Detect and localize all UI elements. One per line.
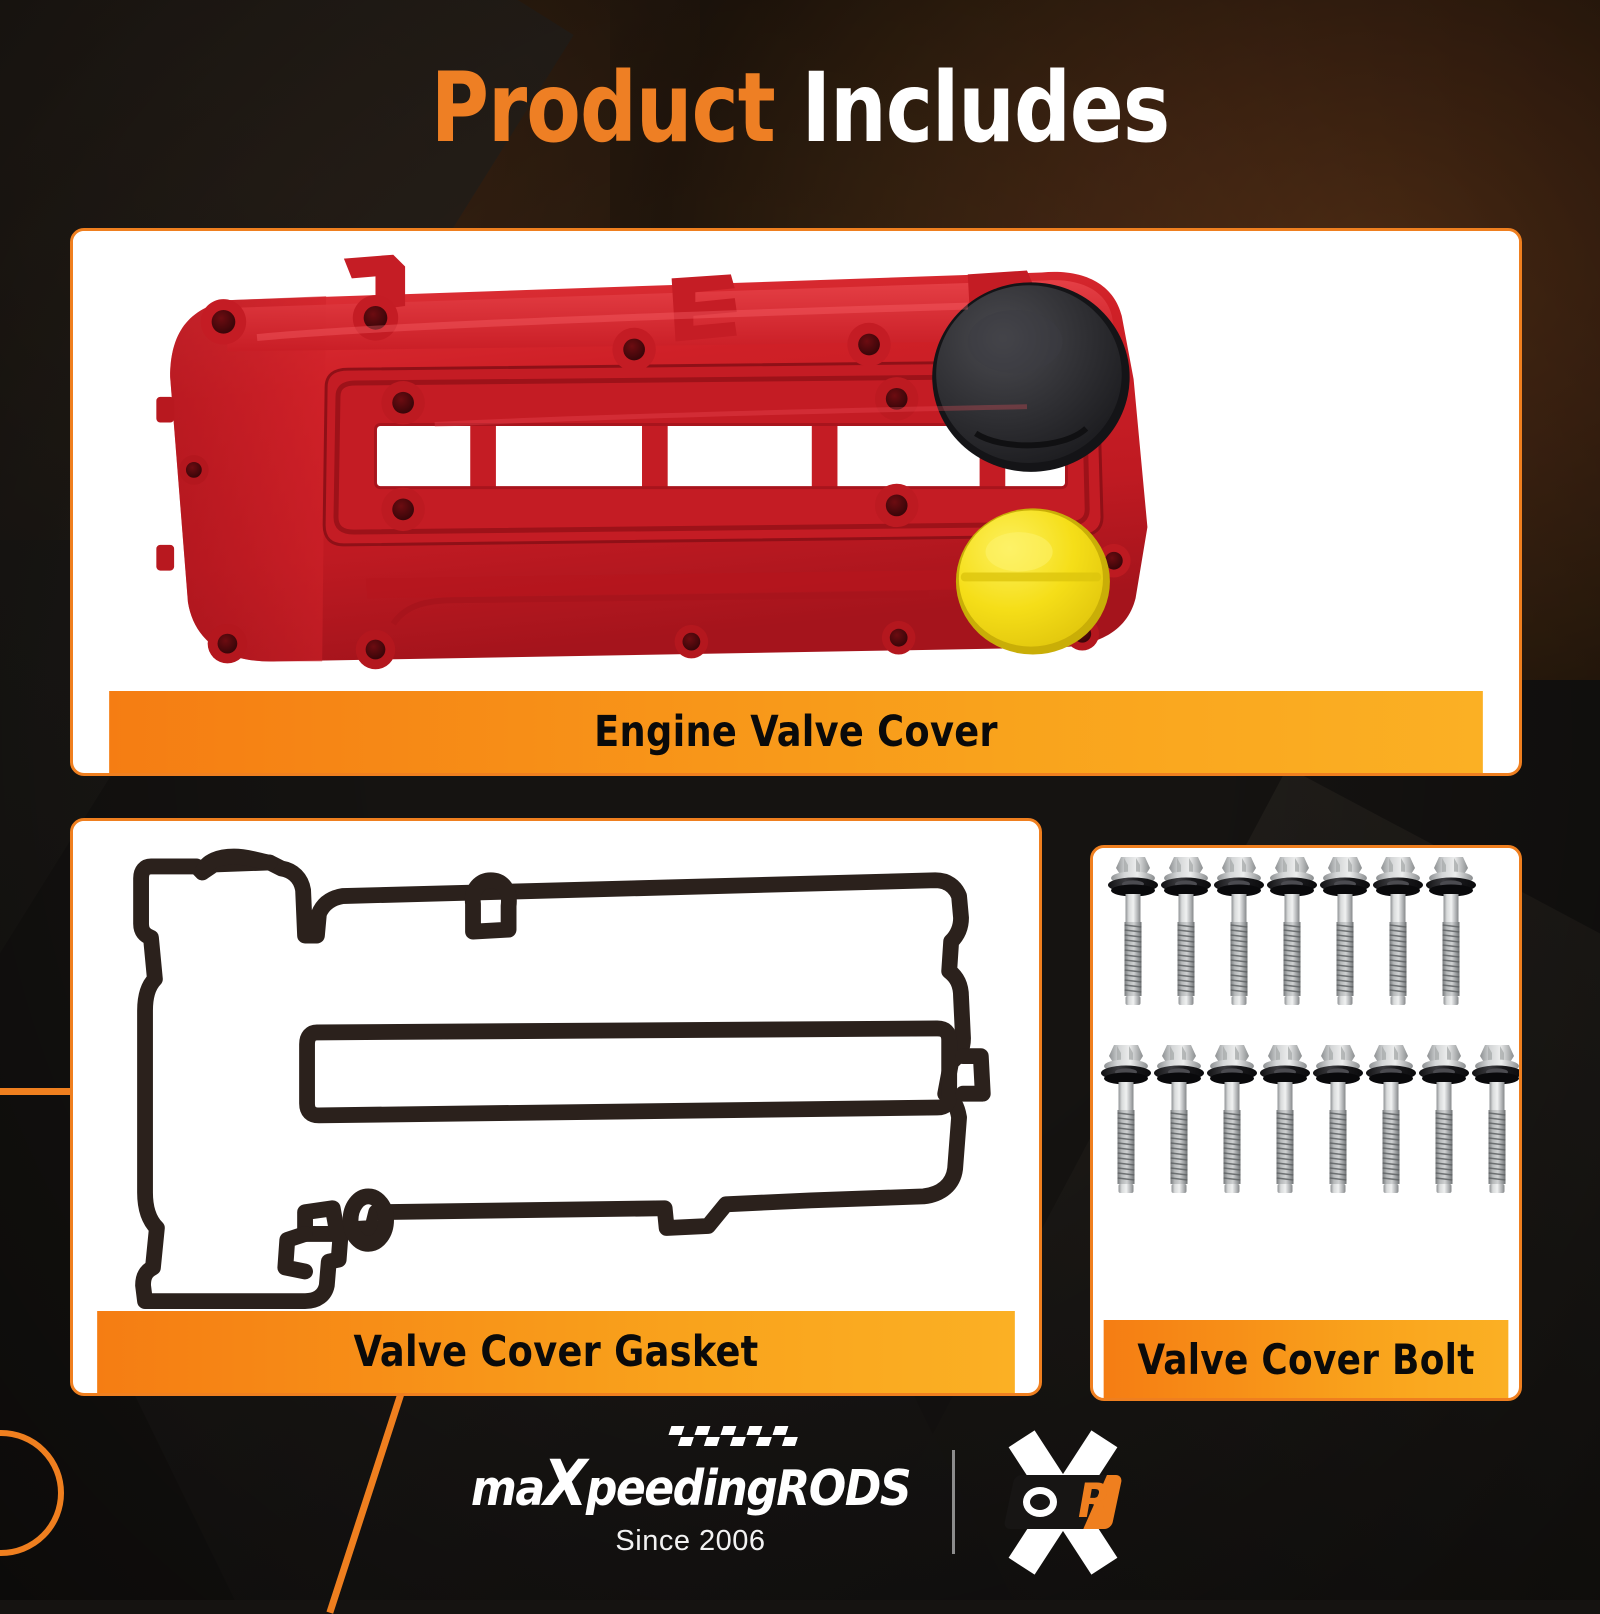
engine-valve-cover-image xyxy=(73,231,1519,691)
oil-cap-yellow xyxy=(956,508,1110,654)
checkered-flag-icon xyxy=(665,1426,808,1447)
page-title: Product Includes xyxy=(64,58,1536,159)
valve-cover-side-tab-lower xyxy=(156,545,174,571)
valve-cover-mount-tab-2 xyxy=(672,274,737,341)
product-card-valve-cover-bolt[interactable]: Valve Cover Bolt xyxy=(1090,845,1522,1401)
footer-divider xyxy=(952,1450,955,1554)
valve-cover-gasket-image xyxy=(73,821,1039,1311)
badge-letter-o xyxy=(1023,1487,1057,1517)
brand-mid: peeding xyxy=(586,1460,776,1517)
bolt-row-bottom xyxy=(1101,1045,1519,1193)
gasket-center-opening xyxy=(307,1028,949,1115)
brand-wordmark: maXpeedingRODS xyxy=(471,1447,910,1520)
brand-logo: maXpeedingRODS Since 2006 xyxy=(471,1447,910,1558)
valve-cover-gasket-caption: Valve Cover Gasket xyxy=(97,1311,1015,1393)
gasket-top-tab xyxy=(473,880,509,931)
brand-suffix: RODS xyxy=(776,1460,910,1517)
badge-letter-r: R xyxy=(1079,1479,1112,1525)
valve-cover-bolt-caption: Valve Cover Bolt xyxy=(1104,1320,1509,1398)
gasket-right-tab xyxy=(963,1056,983,1094)
valve-cover-illustration xyxy=(73,231,1519,691)
brand-since-text: Since 2006 xyxy=(615,1525,765,1558)
product-card-engine-valve-cover[interactable]: Engine Valve Cover xyxy=(70,228,1522,776)
valve-cover-bolt-image xyxy=(1093,848,1519,1320)
gasket-illustration xyxy=(73,821,1039,1311)
badge-plate: R xyxy=(1003,1475,1122,1529)
page-title-highlight: Product xyxy=(431,52,775,164)
brand-x: X xyxy=(544,1447,586,1520)
bolts-illustration xyxy=(1093,848,1519,1320)
page-title-plain: Includes xyxy=(802,52,1170,164)
xor-badge-logo: R xyxy=(997,1446,1129,1558)
product-card-valve-cover-gasket[interactable]: Valve Cover Gasket xyxy=(70,818,1042,1396)
oil-filler-cap-black xyxy=(932,282,1129,472)
gasket-bottom-left-step xyxy=(285,1234,305,1272)
brand-prefix: ma xyxy=(471,1460,544,1517)
footer-branding: maXpeedingRODS Since 2006 R xyxy=(0,1432,1600,1572)
bolt-row-top xyxy=(1108,857,1476,1005)
gasket-outer-contour xyxy=(141,862,963,1301)
engine-valve-cover-caption: Engine Valve Cover xyxy=(109,691,1483,773)
valve-cover-side-tab-upper xyxy=(156,397,174,423)
